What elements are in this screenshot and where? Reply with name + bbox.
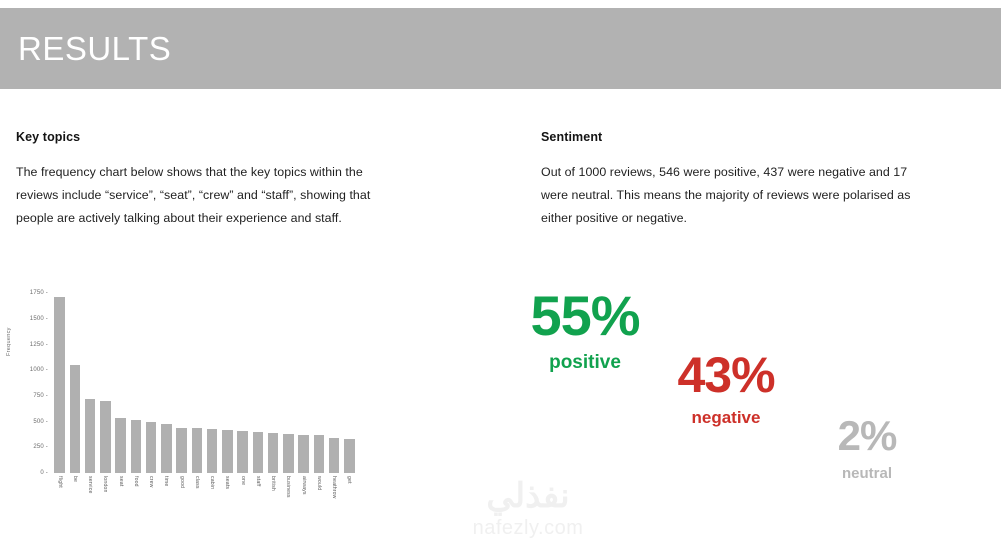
sentiment-heading: Sentiment	[541, 130, 602, 144]
chart-bar-rect	[100, 401, 110, 473]
chart-x-tick-label: cabin	[209, 476, 215, 489]
chart-y-axis-ticks: 0 -250 -500 -750 -1000 -1250 -1500 -1750…	[14, 268, 48, 480]
chart-y-tick: 1750 -	[30, 290, 48, 296]
chart-x-tick-label: one	[240, 476, 246, 485]
chart-bar: get	[344, 283, 354, 473]
chart-bar: crew	[146, 283, 156, 473]
chart-bar: seats	[222, 283, 232, 473]
sentiment-neutral-percent: 2%	[798, 415, 936, 457]
chart-bar-rect	[298, 435, 308, 474]
watermark-arabic-text: نفذلي	[433, 479, 623, 513]
chart-x-tick-label: london	[102, 476, 108, 492]
sentiment-stat-positive: 55% positive	[498, 288, 672, 372]
chart-y-tick: 500 -	[33, 419, 48, 425]
chart-x-tick-label: be	[72, 476, 78, 482]
chart-bar: cabin	[207, 283, 217, 473]
chart-bar-rect	[54, 297, 64, 473]
chart-bar: service	[85, 283, 95, 473]
sentiment-stat-neutral: 2% neutral	[798, 415, 936, 481]
sentiment-body: Out of 1000 reviews, 546 were positive, …	[541, 161, 916, 230]
chart-bar-rect	[268, 433, 278, 473]
chart-x-tick-label: airways	[301, 476, 307, 495]
page-title: RESULTS	[18, 32, 171, 65]
chart-bar-rect	[207, 429, 217, 473]
chart-bar-rect	[222, 430, 232, 473]
chart-y-tick: 250 -	[33, 444, 48, 450]
chart-y-tick: 0 -	[40, 470, 48, 476]
header-band: RESULTS	[0, 8, 1001, 89]
chart-x-tick-label: good	[179, 476, 185, 488]
sentiment-stat-negative: 43% negative	[648, 350, 804, 426]
chart-bar: london	[100, 283, 110, 473]
key-topics-heading: Key topics	[16, 130, 80, 144]
chart-bar: would	[314, 283, 324, 473]
sentiment-positive-label: positive	[498, 353, 672, 372]
chart-bar-rect	[237, 431, 247, 473]
chart-y-tick: 1250 -	[30, 342, 48, 348]
watermark: نفذلي nafezly.com	[433, 479, 623, 538]
chart-bar: flight	[54, 283, 64, 473]
chart-bar-rect	[314, 435, 324, 473]
chart-x-tick-label: food	[133, 476, 139, 487]
watermark-domain-text: nafezly.com	[433, 518, 623, 538]
chart-bar-rect	[253, 432, 263, 473]
chart-bar: staff	[253, 283, 263, 473]
chart-bar: one	[237, 283, 247, 473]
chart-bar-rect	[192, 428, 202, 473]
chart-bar-rect	[283, 434, 293, 473]
chart-x-tick-label: time	[163, 476, 169, 486]
chart-bar: food	[131, 283, 141, 473]
chart-x-tick-label: seat	[118, 476, 124, 486]
chart-x-tick-label: staff	[255, 476, 261, 486]
chart-x-tick-label: class	[194, 476, 200, 489]
sentiment-negative-label: negative	[648, 409, 804, 426]
chart-y-tick: 750 -	[33, 393, 48, 399]
sentiment-positive-percent: 55%	[498, 288, 672, 344]
chart-bar-rect	[329, 438, 339, 473]
chart-x-tick-label: british	[270, 476, 276, 491]
chart-bar-rect	[344, 439, 354, 473]
chart-y-tick: 1000 -	[30, 367, 48, 373]
chart-x-tick-label: get	[346, 476, 352, 484]
chart-bar: time	[161, 283, 171, 473]
chart-y-axis-label: Frequency	[6, 327, 12, 356]
chart-y-tick: 1500 -	[30, 316, 48, 322]
chart-bar: business	[283, 283, 293, 473]
chart-bar: be	[70, 283, 80, 473]
sentiment-negative-percent: 43%	[648, 350, 804, 400]
chart-x-tick-label: would	[316, 476, 322, 490]
chart-bar: british	[268, 283, 278, 473]
chart-bar: seat	[115, 283, 125, 473]
chart-bar: class	[192, 283, 202, 473]
chart-x-tick-label: flight	[57, 476, 63, 488]
chart-bar-rect	[131, 420, 141, 473]
chart-bar: good	[176, 283, 186, 473]
chart-x-tick-label: crew	[148, 476, 154, 488]
chart-bar-rect	[146, 422, 156, 473]
sentiment-neutral-label: neutral	[798, 466, 936, 481]
chart-bar-rect	[176, 428, 186, 473]
chart-bar-rect	[70, 365, 80, 473]
chart-x-tick-label: seats	[224, 476, 230, 489]
key-topics-body: The frequency chart below shows that the…	[16, 161, 396, 230]
chart-bar: airways	[298, 283, 308, 473]
chart-bar-rect	[115, 418, 125, 473]
chart-x-tick-label: heathrow	[331, 476, 337, 499]
chart-bar-rect	[161, 424, 171, 473]
chart-x-tick-label: business	[285, 476, 291, 498]
chart-bar: heathrow	[329, 283, 339, 473]
chart-x-tick-label: service	[87, 476, 93, 493]
chart-bar-rect	[85, 399, 95, 473]
chart-plot-area: flightbeservicelondonseatfoodcrewtimegoo…	[52, 283, 357, 473]
